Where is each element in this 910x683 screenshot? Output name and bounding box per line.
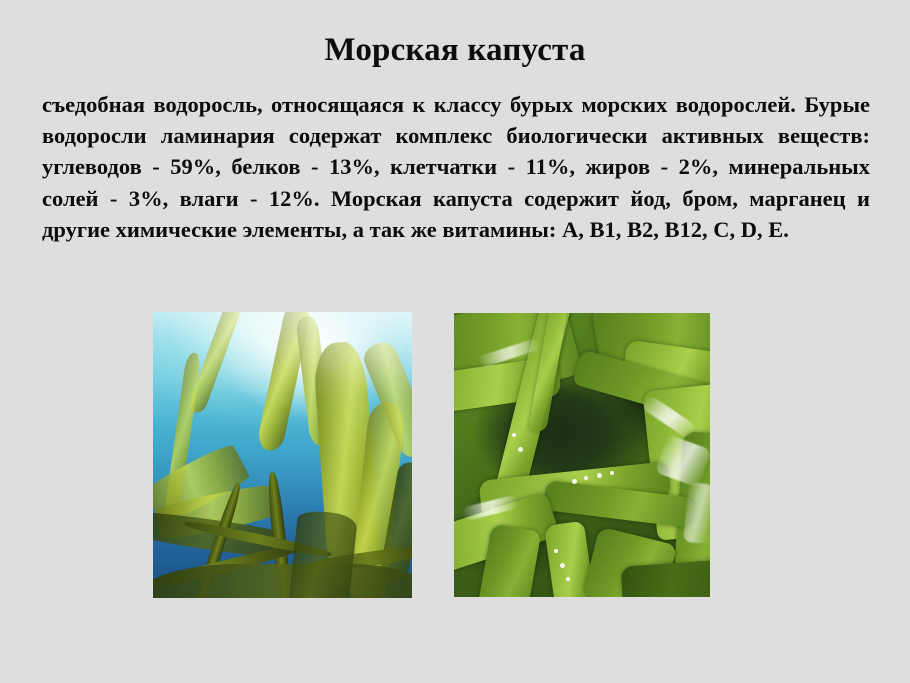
water-droplet bbox=[518, 447, 523, 452]
water-droplet bbox=[572, 479, 577, 484]
water-droplet bbox=[560, 563, 565, 568]
body-paragraph: съедобная водоросль, относящаяся к класс… bbox=[42, 89, 870, 245]
water-droplet bbox=[584, 476, 588, 480]
sunlight-rays bbox=[153, 312, 412, 598]
water-droplet bbox=[554, 549, 558, 553]
page-title: Морская капуста bbox=[0, 30, 910, 70]
kelp-forest-scene bbox=[153, 312, 412, 598]
kelp-forest-underwater-photo bbox=[153, 312, 412, 598]
seaweed-closeup-photo bbox=[454, 313, 710, 597]
water-droplet bbox=[566, 577, 570, 581]
water-droplet bbox=[610, 471, 614, 475]
water-droplet bbox=[597, 473, 602, 478]
seaweed-closeup-scene bbox=[454, 313, 710, 597]
presentation-slide: Морская капуста съедобная водоросль, отн… bbox=[0, 0, 910, 683]
water-droplet bbox=[512, 433, 516, 437]
